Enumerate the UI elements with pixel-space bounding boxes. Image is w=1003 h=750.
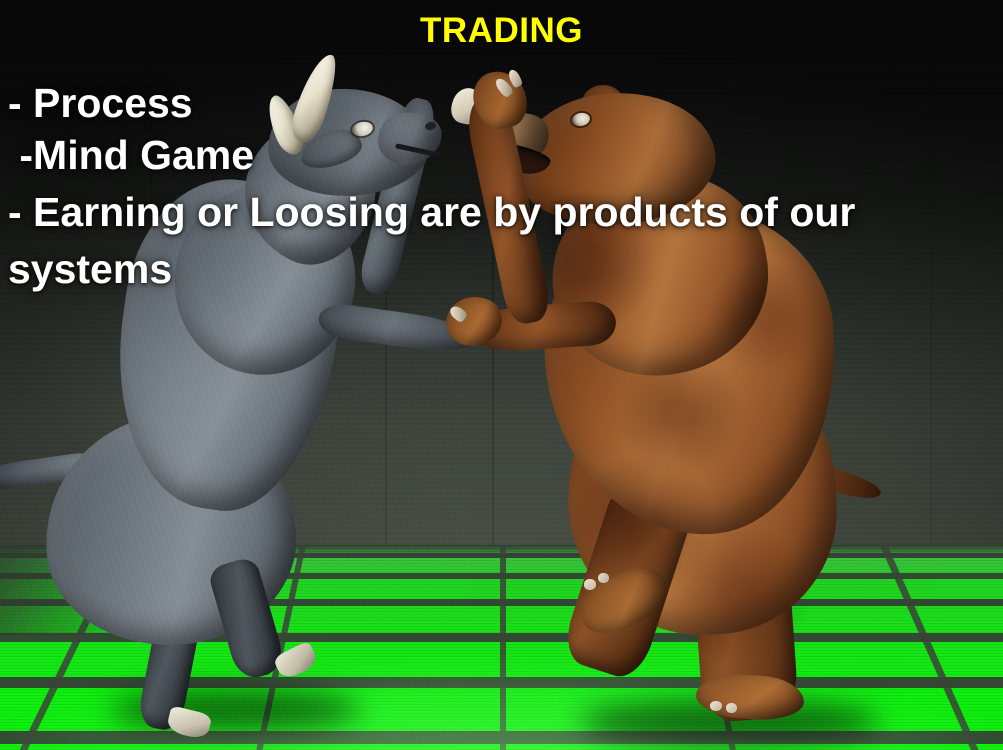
bullet-list: - Process -Mind Game - Earning or Loosin… xyxy=(8,78,908,297)
bear-toe xyxy=(584,579,596,590)
presentation-slide: TRADING - Process -Mind Game - Earning o… xyxy=(0,0,1003,750)
bullet-item-mind-game: -Mind Game xyxy=(8,130,908,180)
bear-toe xyxy=(710,701,722,711)
bear-toe xyxy=(726,703,737,713)
bear-toe xyxy=(598,573,609,583)
bull-hoof xyxy=(165,705,212,740)
slide-title: TRADING xyxy=(0,11,1003,51)
bullet-item-process: - Process xyxy=(8,78,908,128)
bullet-item-earning-loosing: - Earning or Loosing are by products of … xyxy=(8,184,908,297)
